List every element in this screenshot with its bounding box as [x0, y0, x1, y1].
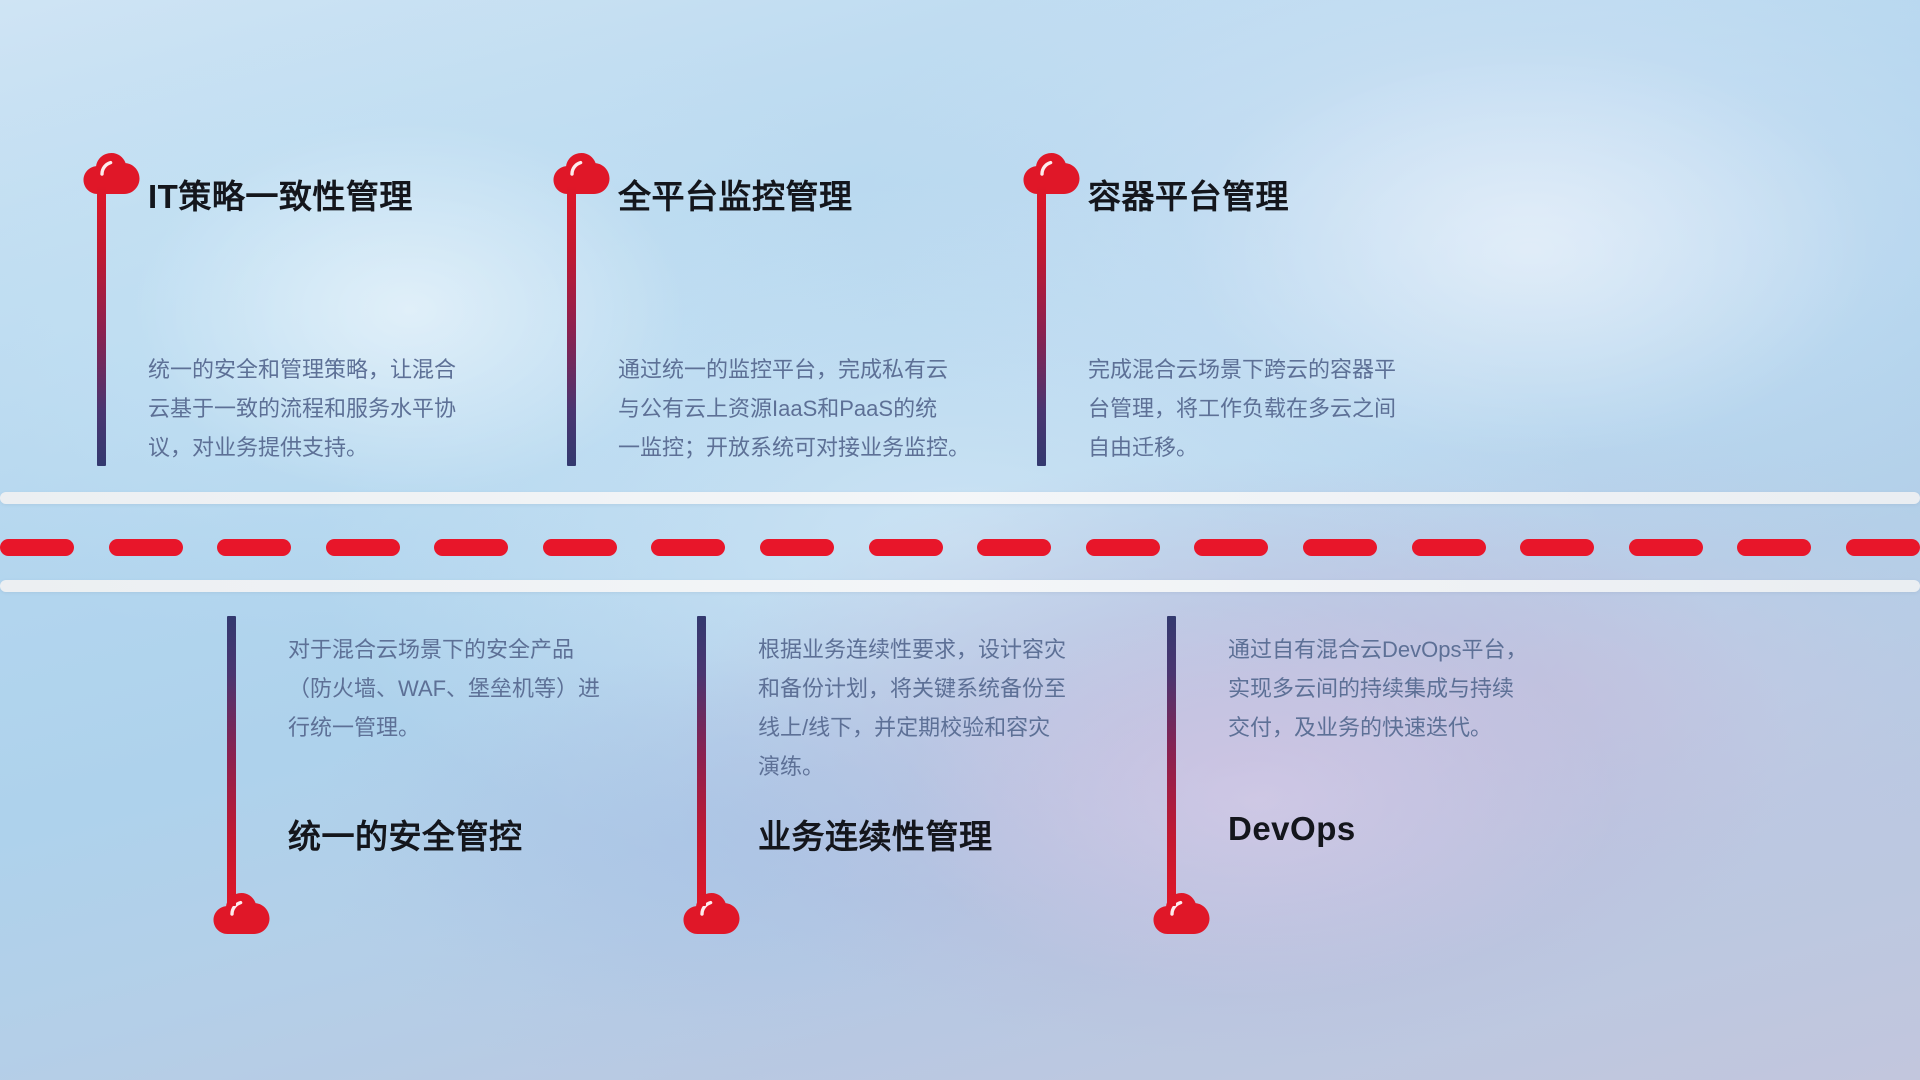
card-heading: 全平台监控管理 [618, 170, 853, 218]
road-dash [0, 539, 74, 556]
card-heading: 业务连续性管理 [758, 810, 993, 858]
cloud-icon [1150, 890, 1212, 940]
road-dashes [0, 539, 1920, 556]
road-dash [651, 539, 725, 556]
card-heading: DevOps [1228, 810, 1356, 848]
road-dash [1520, 539, 1594, 556]
card-body: 完成混合云场景下跨云的容器平 台管理，将工作负载在多云之间 自由迁移。 [1088, 350, 1518, 467]
road-rail-bottom [0, 580, 1920, 592]
infographic-canvas: IT策略一致性管理 统一的安全和管理策略，让混合 云基于一致的流程和服务水平协 … [0, 0, 1920, 1080]
road-dash [1303, 539, 1377, 556]
timeline-stem [227, 616, 236, 906]
timeline-stem [567, 186, 576, 466]
cloud-icon [680, 890, 742, 940]
road-dash [1086, 539, 1160, 556]
road-dash [1629, 539, 1703, 556]
road-dash [760, 539, 834, 556]
road-dash [434, 539, 508, 556]
cloud-icon [80, 150, 142, 200]
timeline-stem [97, 186, 106, 466]
card-body: 通过自有混合云DevOps平台， 实现多云间的持续集成与持续 交付，及业务的快速… [1228, 630, 1658, 747]
timeline-stem [1167, 616, 1176, 906]
card-heading: 容器平台管理 [1088, 170, 1289, 218]
road-dash [869, 539, 943, 556]
road-dash [543, 539, 617, 556]
cloud-icon [210, 890, 272, 940]
card-body: 通过统一的监控平台，完成私有云 与公有云上资源IaaS和PaaS的统 一监控；开… [618, 350, 1048, 467]
road-dash [326, 539, 400, 556]
timeline-stem [697, 616, 706, 906]
road-dash [1737, 539, 1811, 556]
cloud-icon [1020, 150, 1082, 200]
road-rail-top [0, 492, 1920, 504]
card-body: 统一的安全和管理策略，让混合 云基于一致的流程和服务水平协 议，对业务提供支持。 [148, 350, 578, 467]
road-dash [217, 539, 291, 556]
timeline-stem [1037, 186, 1046, 466]
road-dash [1194, 539, 1268, 556]
card-heading: 统一的安全管控 [288, 810, 523, 858]
card-body: 根据业务连续性要求，设计容灾 和备份计划，将关键系统备份至 线上/线下，并定期校… [758, 630, 1188, 786]
cloud-icon [550, 150, 612, 200]
road-dash [977, 539, 1051, 556]
road-dash [1412, 539, 1486, 556]
card-body: 对于混合云场景下的安全产品 （防火墙、WAF、堡垒机等）进 行统一管理。 [288, 630, 718, 747]
card-heading: IT策略一致性管理 [148, 170, 413, 218]
road-dash [1846, 539, 1920, 556]
road-divider [0, 0, 1920, 1]
road-dash [109, 539, 183, 556]
